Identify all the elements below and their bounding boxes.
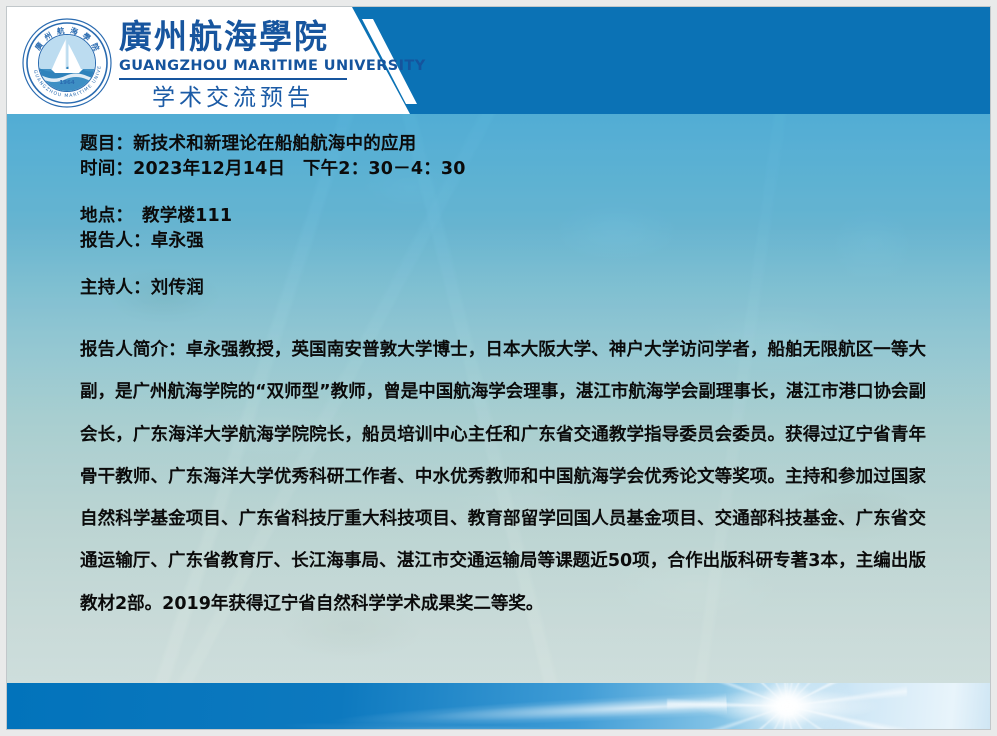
lecture-speaker-line: 报告人：卓永强 — [80, 229, 925, 254]
brand-divider — [119, 78, 347, 80]
poster-content: 题目：新技术和新理论在船舶航海中的应用 时间：2023年12月14日 下午2：3… — [7, 114, 990, 684]
poster-subtitle: 学术交流预告 — [119, 83, 347, 113]
lecture-title-line: 题目：新技术和新理论在船舶航海中的应用 — [80, 132, 925, 157]
university-seal-sailboat-icon: 1964 廣州航海學院 GUANGZHOU MARITIME UNIVERSIT… — [21, 17, 113, 109]
poster-header: 1964 廣州航海學院 GUANGZHOU MARITIME UNIVERSIT… — [7, 7, 990, 114]
speaker-biography: 报告人简介：卓永强教授，英国南安普敦大学博士，日本大阪大学、神户大学访问学者，船… — [80, 329, 926, 625]
svg-text:1964: 1964 — [59, 80, 74, 86]
university-name-cn: 廣州航海學院 — [119, 17, 359, 57]
spacer-3 — [80, 301, 925, 329]
brand-block: 廣州航海學院 GUANGZHOU MARITIME UNIVERSITY 学术交… — [119, 17, 359, 113]
poster-footer-band — [7, 683, 990, 729]
spacer-1 — [80, 182, 925, 204]
spacer-2 — [80, 254, 925, 276]
lecture-time-line: 时间：2023年12月14日 下午2：30－4：30 — [80, 157, 925, 182]
poster-slide: 1964 廣州航海學院 GUANGZHOU MARITIME UNIVERSIT… — [7, 7, 990, 729]
university-name-en: GUANGZHOU MARITIME UNIVERSITY — [119, 58, 359, 74]
lecture-host-line: 主持人：刘传润 — [80, 276, 925, 301]
lecture-venue-line: 地点： 教学楼111 — [80, 204, 925, 229]
